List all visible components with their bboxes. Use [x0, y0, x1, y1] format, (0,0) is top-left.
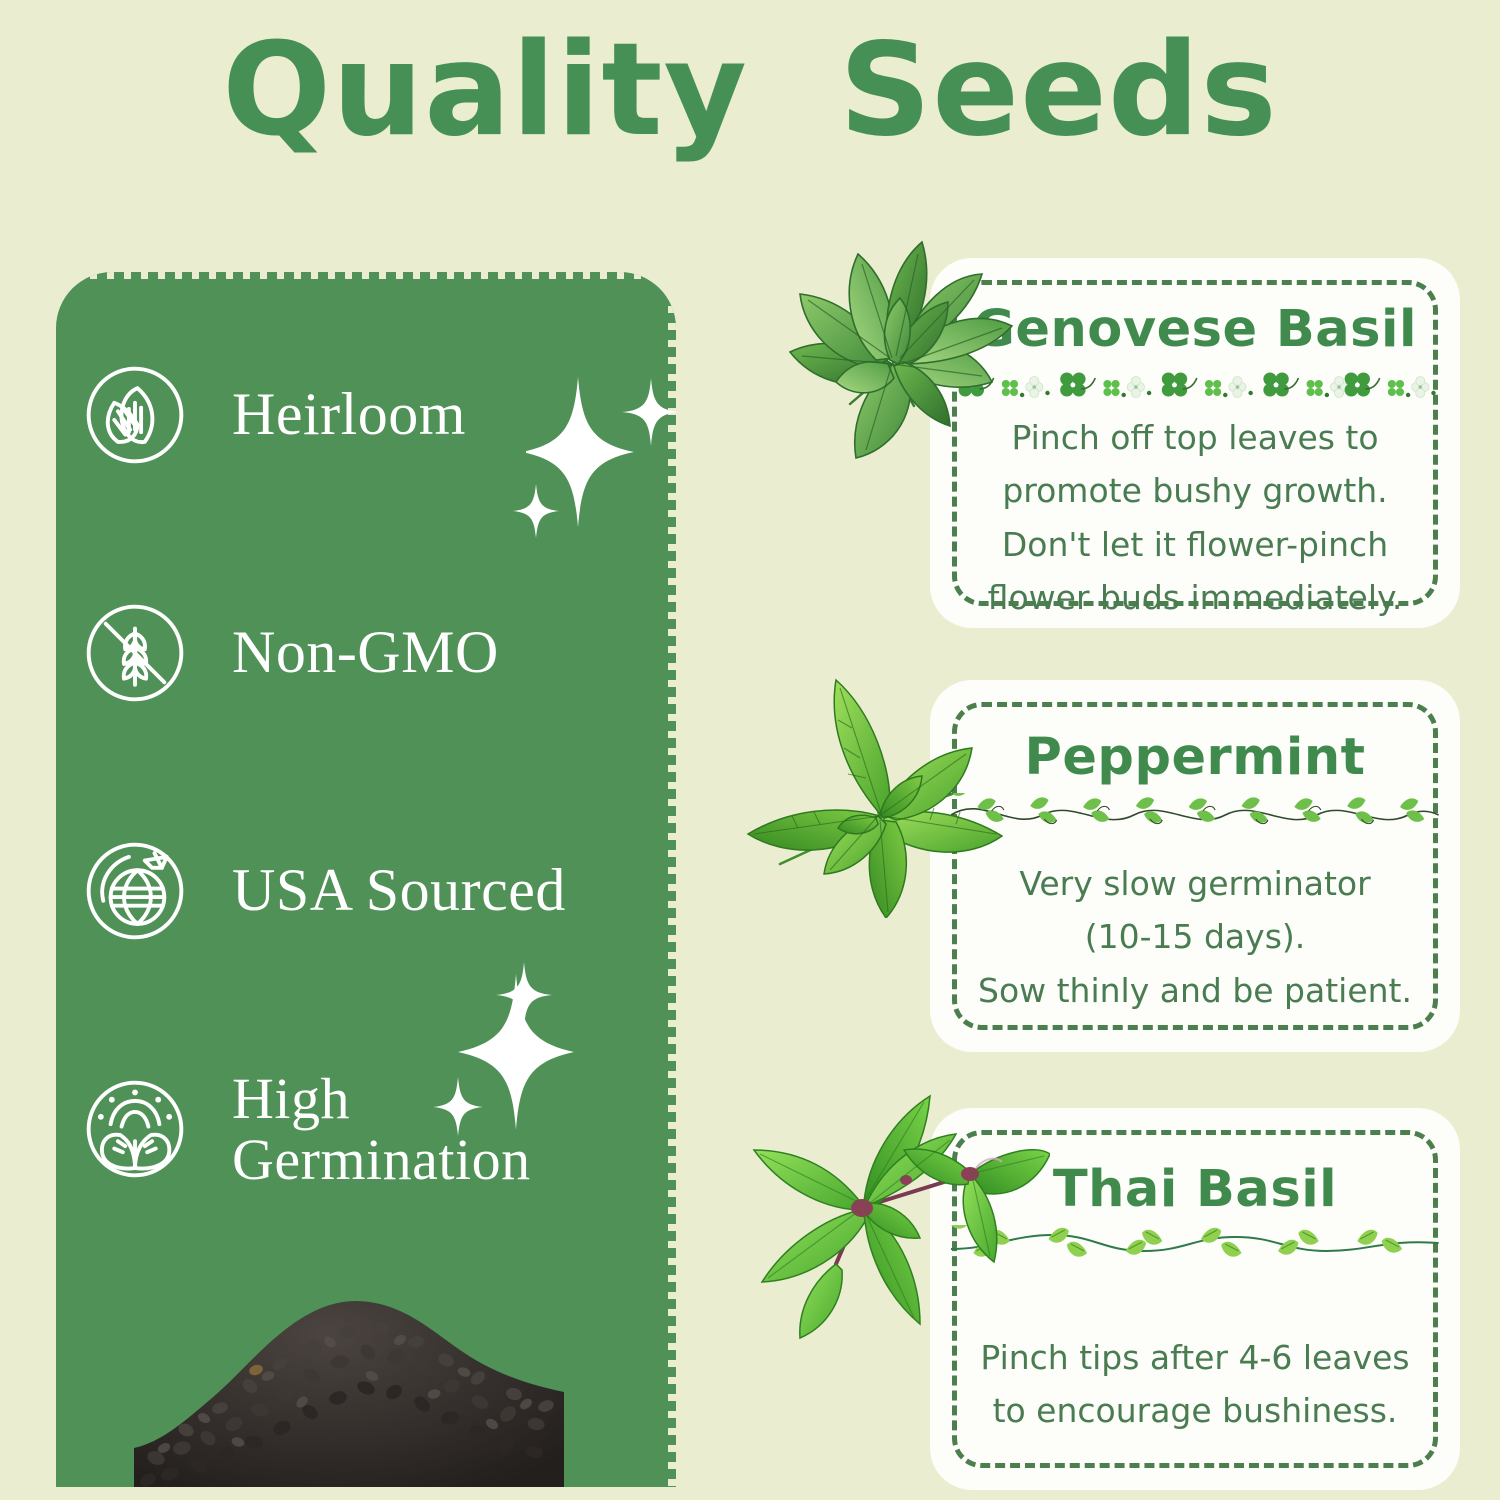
- no-gmo-wheat-icon: [74, 592, 196, 714]
- page-title: Quality Seeds: [0, 26, 1500, 157]
- variety-card-thai-basil[interactable]: Thai Basil: [930, 1108, 1460, 1490]
- feature-item-heirloom: Heirloom: [56, 296, 676, 534]
- ivy-vine-divider-icon: [951, 793, 1439, 833]
- card-body-thai-basil: Pinch tips after 4-6 leaves to encourage…: [938, 1331, 1451, 1438]
- panel-notch-right: [668, 272, 676, 1487]
- feature-list: Heirloom Non-GMO: [56, 296, 676, 1248]
- clover-flower-divider-icon: [951, 365, 1439, 405]
- basil-seed-pile-image: [134, 1252, 564, 1487]
- feature-label-non-gmo: Non-GMO: [232, 621, 499, 685]
- feature-label-usa-sourced: USA Sourced: [232, 859, 566, 923]
- feature-item-non-gmo: Non-GMO: [56, 534, 676, 772]
- feature-item-high-germination: High Germination: [56, 1010, 676, 1248]
- card-title-thai-basil: Thai Basil: [1053, 1160, 1337, 1219]
- leaf-wave-divider-icon: [951, 1225, 1439, 1265]
- feature-label-high-germination: High Germination: [232, 1068, 531, 1191]
- page-title-text: Quality Seeds: [0, 26, 1500, 157]
- sprout-sun-icon: [74, 1068, 196, 1190]
- card-title-genovese-basil: Genovese Basil: [973, 300, 1417, 359]
- globe-airplane-icon: [74, 830, 196, 952]
- variety-card-genovese-basil[interactable]: Genovese Basil: [930, 258, 1460, 628]
- feature-item-usa-sourced: USA Sourced: [56, 772, 676, 1010]
- variety-card-peppermint[interactable]: Peppermint: [930, 680, 1460, 1052]
- card-title-peppermint: Peppermint: [1024, 728, 1365, 787]
- panel-notch-top: [56, 272, 676, 279]
- card-body-genovese-basil: Pinch off top leaves to promote bushy gr…: [946, 411, 1445, 625]
- feature-label-heirloom: Heirloom: [232, 383, 466, 447]
- card-body-peppermint: Very slow germinator (10-15 days). Sow t…: [936, 857, 1454, 1017]
- seed-leaf-icon: [74, 354, 196, 476]
- features-panel: Heirloom Non-GMO: [56, 272, 676, 1487]
